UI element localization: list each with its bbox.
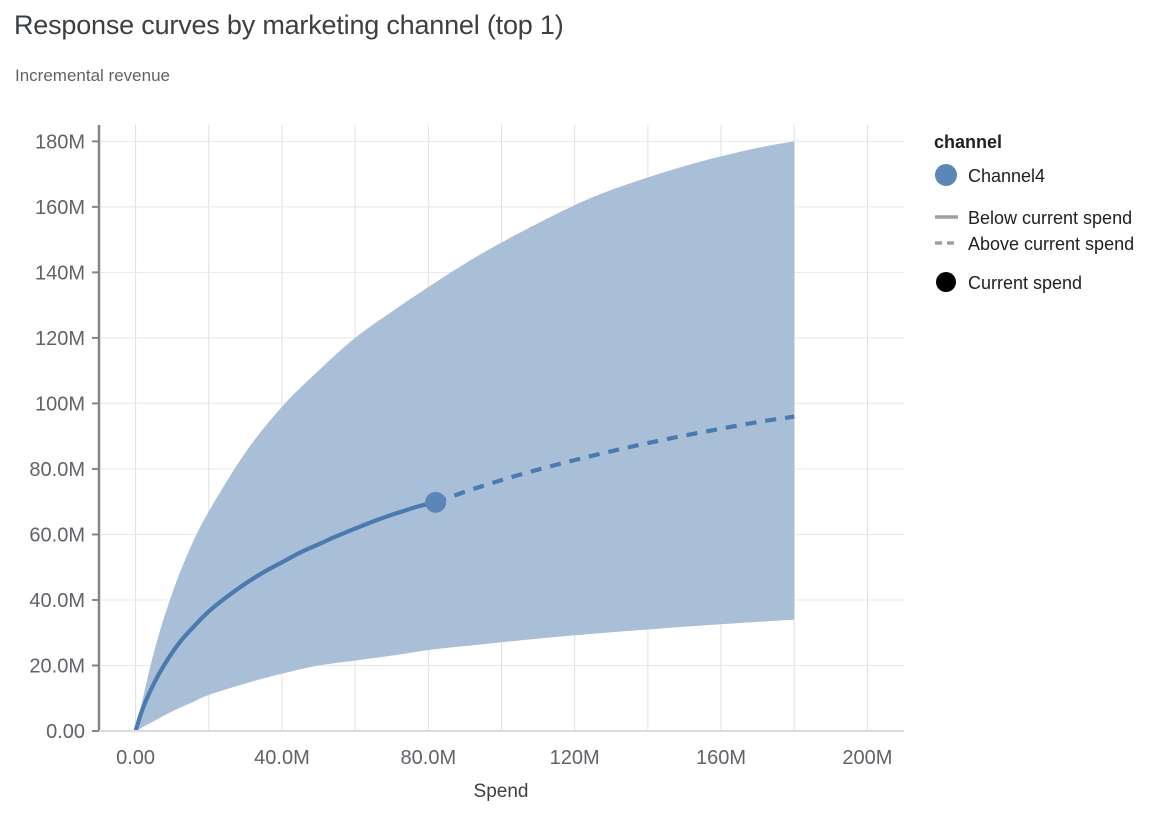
x-tick-label: 200M [842,747,892,769]
y-tick-label: 180M [35,131,85,153]
y-axis-ticks: 0.0020.0M40.0M60.0M80.0M100M120M140M160M… [29,131,99,743]
legend-marker-channel4[interactable] [935,164,957,186]
x-tick-label: 120M [550,747,600,769]
y-tick-label: 0.00 [46,721,85,743]
y-tick-label: 60.0M [29,524,85,546]
legend-label-channel4[interactable]: Channel4 [968,166,1045,186]
chart-svg: 0.0020.0M40.0M60.0M80.0M100M120M140M160M… [0,0,1164,814]
current-spend-marker[interactable] [425,492,446,513]
legend: channel Channel4 Below current spend Abo… [934,132,1134,293]
x-axis-ticks: 0.0040.0M80.0M120M160M200M [116,747,892,769]
x-tick-label: 80.0M [401,747,457,769]
y-tick-label: 140M [35,262,85,284]
y-tick-label: 40.0M [29,590,85,612]
y-tick-label: 160M [35,197,85,219]
legend-label-above-current-spend[interactable]: Above current spend [968,234,1134,254]
x-tick-label: 160M [696,747,746,769]
legend-label-below-current-spend[interactable]: Below current spend [968,208,1132,228]
x-axis-title: Spend [474,781,529,802]
y-tick-label: 120M [35,328,85,350]
x-tick-label: 0.00 [116,747,155,769]
plot-area-wrapper: 0.0020.0M40.0M60.0M80.0M100M120M140M160M… [0,0,1164,814]
legend-label-current-spend[interactable]: Current spend [968,273,1082,293]
y-tick-label: 80.0M [29,459,85,481]
legend-marker-current-spend[interactable] [936,272,956,292]
y-tick-label: 20.0M [29,655,85,677]
x-tick-label: 40.0M [254,747,310,769]
legend-title: channel [934,132,1002,152]
y-tick-label: 100M [35,393,85,415]
